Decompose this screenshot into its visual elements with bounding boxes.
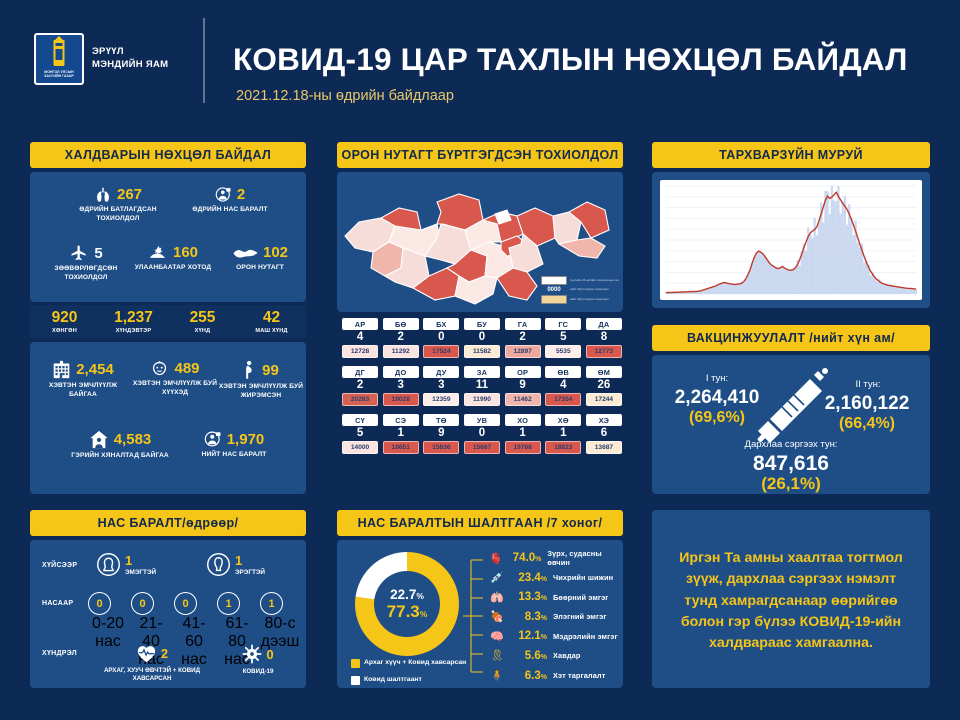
provinces-label: ОРОН НУТАГТ (214, 264, 306, 273)
ulaanbaatar-label: УЛААНБААТАР ХОТОД (126, 264, 220, 273)
province-daily-cases: 4 (342, 331, 378, 343)
dose1-label: I тун: (660, 373, 774, 384)
hospitalized-label: ХЭВТЭН ЭМЧЛҮҮЛЖ БАЙГАА (36, 382, 130, 400)
severity-critical-value: 42 (237, 309, 306, 327)
severity-mild-value: 920 (30, 309, 99, 327)
province-row: ДГ220283ДО319028ДУ312359ЗА1111990ОР91146… (342, 366, 622, 406)
province-code: СЭ (383, 414, 419, 426)
complication-chronic-value: 2 (161, 646, 168, 661)
province-cell-ДУ[interactable]: ДУ312359 (423, 366, 459, 406)
panel-title-deaths-daily: НАС БАРАЛТ/өдрөөр/ (30, 510, 306, 536)
province-daily-cases: 0 (464, 427, 500, 439)
province-total-cases: 12728 (342, 345, 378, 358)
panel-title-infection: ХАЛДВАРЫН НӨХЦӨЛ БАЙДАЛ (30, 142, 306, 168)
province-code: ОР (505, 366, 541, 378)
government-emblem-box: МОНГОЛ УЛСЫНЗАСГИЙН ГАЗАР (34, 33, 84, 85)
stat-daily-deaths: 2 ӨДРИЙН НАС БАРАЛТ (180, 186, 280, 215)
hospitalized-pregnant-label: ХЭВТЭН ЭМЧЛҮҮЛЖ БУЙ ЖИРЭМСЭН (216, 383, 306, 401)
legend-highlight-label: нийт бүртгэгдсэн тохиолдол (570, 298, 609, 302)
province-row: СҮ514000СЭ118651ТӨ915636УВ015687ХО119768… (342, 414, 622, 454)
death-person-icon (215, 186, 232, 203)
province-daily-cases: 1 (383, 427, 419, 439)
hospitalized-children-value: 489 (174, 360, 199, 377)
province-cell-УВ[interactable]: УВ015687 (464, 414, 500, 454)
insulin-icon: 💉 (487, 571, 507, 584)
panel-deaths-daily: ХҮЙСЭЭР НАСААР ХҮНДРЭЛ 1 ЭМЭГТЭЙ 1 ЭРЭГТ… (30, 540, 306, 688)
province-cell-ТӨ[interactable]: ТӨ915636 (423, 414, 459, 454)
province-daily-cases: 9 (505, 379, 541, 391)
home-isolation-label: ГЭРИЙН ХЯНАЛТАД БАЙГАА (68, 452, 172, 461)
province-total-cases: 17244 (586, 393, 622, 406)
severity-critical: 42 МАШ ХҮНД (237, 309, 306, 334)
hospitalized-value: 2,454 (76, 361, 114, 378)
province-daily-cases: 11 (464, 379, 500, 391)
age-group-value: 0 (88, 592, 111, 615)
panel-title-vaccination: ВАКЦИНЖУУЛАЛТ /нийт хүн ам/ (652, 325, 930, 351)
dose1-value: 2,264,410 (656, 387, 778, 409)
province-cell-ГА[interactable]: ГА212897 (505, 318, 541, 358)
brain-icon: 🧠 (487, 630, 507, 643)
province-total-cases: 12773 (586, 345, 622, 358)
ulaanbaatar-icon (148, 244, 168, 261)
legend-daily-label: сүүлийн 24 цагийн тохиолдлын тоо (570, 279, 619, 283)
death-cause-pct: 74.0% (505, 552, 541, 564)
deaths-male-value: 1 (235, 554, 265, 567)
booster-label: Дархлаа сэргээх тун: (691, 439, 891, 450)
province-total-cases: 20283 (342, 393, 378, 406)
panel-vaccination: I тун: 2,264,410 (69,6%) II тун: 2,160,1… (652, 355, 930, 494)
donut-center: 22.7% 77.3% (374, 571, 440, 637)
province-code: БХ (423, 318, 459, 330)
death-cause-pct: 5.6% (507, 650, 547, 662)
mongolia-map-icon (232, 246, 258, 260)
deaths-female-value: 1 (125, 554, 156, 567)
province-cell-ӨВ[interactable]: ӨВ417354 (545, 366, 581, 406)
hospitalized-children-label: ХЭВТЭН ЭМЧЛҮҮЛЖ БУЙ ХҮҮХЭД (128, 380, 222, 398)
death-cause-label: Элэгний эмгэг (553, 612, 607, 621)
province-daily-cases: 2 (342, 379, 378, 391)
provinces-value: 102 (263, 244, 288, 261)
page-header: МОНГОЛ УЛСЫНЗАСГИЙН ГАЗАР ЭРҮҮЛМЭНДИЙН Я… (0, 0, 960, 128)
ministry-name: ЭРҮҮЛМЭНДИЙН ЯАМ (92, 46, 168, 72)
panel-title-epi-curve: ТАРХВАРЗҮЙН МУРУЙ (652, 142, 930, 168)
age-group-value: 1 (260, 592, 283, 615)
dose2-value: 2,160,122 (806, 393, 928, 415)
home-person-icon (89, 430, 109, 449)
province-total-cases: 18823 (545, 441, 581, 454)
death-cause-label: Хэт таргалалт (553, 671, 605, 680)
stat-provinces: 102 ОРОН НУТАГТ (214, 244, 306, 273)
province-code: ДО (383, 366, 419, 378)
death-cause-pct: 13.3% (507, 591, 547, 603)
lungs-icon (94, 187, 112, 203)
age-group-value: 1 (217, 592, 240, 615)
deaths-male-label: ЭРЭГТЭЙ (235, 569, 265, 576)
hospital-icon (52, 360, 71, 379)
total-deaths-value: 1,970 (227, 431, 265, 448)
stat-daily-confirmed: 267 ӨДРИЙН БАТЛАГДСАН ТОХИОЛДОЛ (66, 186, 170, 224)
map-legend: сүүлийн 24 цагийн тохиолдлын тоо 0000 ни… (541, 276, 619, 306)
province-cell-АР[interactable]: АР412728 (342, 318, 378, 358)
province-cell-ГС[interactable]: ГС55535 (545, 318, 581, 358)
legend-chip-white (541, 276, 567, 285)
province-cell-СҮ[interactable]: СҮ514000 (342, 414, 378, 454)
panel-death-causes: 22.7% 77.3% Архаг хүүч + Ковид хавсарсан… (337, 540, 623, 688)
complication-covid: 0 КОВИД-19 (216, 644, 300, 675)
province-daily-cases: 3 (423, 379, 459, 391)
home-isolation-value: 4,583 (114, 431, 152, 448)
province-total-cases: 18651 (383, 441, 419, 454)
soyombo-icon (49, 40, 69, 68)
province-daily-cases: 0 (423, 331, 459, 343)
province-code: ДУ (423, 366, 459, 378)
legend-total-label: нийт бүртгэгдсэн тохиолдол (570, 288, 609, 292)
panel-epi-curve (652, 172, 930, 308)
donut-legend-primary: Архаг хүүч + Ковид хавсарсан (351, 658, 467, 668)
province-cell-ДО[interactable]: ДО319028 (383, 366, 419, 406)
stat-total-deaths: 1,970 НИЙТ НАС БАРАЛТ (182, 430, 286, 460)
panel-public-message: Иргэн Та амны хаалтаа тогтмол зүүж, дарх… (652, 510, 930, 688)
header-divider (203, 18, 205, 103)
severity-moderate-value: 1,237 (99, 309, 168, 327)
province-daily-cases: 26 (586, 379, 622, 391)
label-by-severity: ХҮНДРЭЛ (42, 650, 77, 657)
airplane-icon (69, 244, 89, 262)
death-cause-row: 🫀74.0%Зүрх, судасны өвчин (487, 550, 619, 566)
panel-hospitalization: 2,454 ХЭВТЭН ЭМЧЛҮҮЛЖ БАЙГАА 489 ХЭВТЭН … (30, 342, 306, 494)
complication-chronic-label: АРХАГ, ХУУЧ ӨВЧТЭЙ + КОВИД ХАВСАРСАН (92, 667, 212, 684)
province-code: ГА (505, 318, 541, 330)
province-cell-ӨМ[interactable]: ӨМ2617244 (586, 366, 622, 406)
province-cell-СЭ[interactable]: СЭ118651 (383, 414, 419, 454)
province-daily-cases: 5 (342, 427, 378, 439)
public-message-text: Иргэн Та амны хаалтаа тогтмол зүүж, дарх… (662, 548, 920, 654)
province-total-cases: 14000 (342, 441, 378, 454)
death-cause-label: Чихрийн шижин (553, 573, 613, 582)
donut-primary-pct: 77.3% (387, 602, 428, 622)
daily-confirmed-value: 267 (117, 186, 142, 203)
epi-curve-svg (660, 180, 922, 300)
bracket-connector-icon (463, 554, 485, 678)
province-total-cases: 19028 (383, 393, 419, 406)
severity-mild: 920 ХӨНГӨН (30, 309, 99, 334)
province-daily-cases: 6 (586, 427, 622, 439)
province-code: ӨМ (586, 366, 622, 378)
obesity-icon: 🧍 (487, 669, 507, 682)
death-cause-row: 💉23.4%Чихрийн шижин (487, 570, 619, 586)
province-cell-ХӨ[interactable]: ХӨ118823 (545, 414, 581, 454)
province-total-cases: 12897 (505, 345, 541, 358)
legend-chip-yellow (541, 295, 567, 304)
donut-secondary-pct: 22.7% (390, 587, 424, 602)
province-code: СҮ (342, 414, 378, 426)
severity-moderate-label: ХҮНДЭВТЭР (99, 328, 168, 334)
province-code: УВ (464, 414, 500, 426)
province-cell-ДА[interactable]: ДА812773 (586, 318, 622, 358)
province-code: ХӨ (545, 414, 581, 426)
mongolia-choropleth-map: сүүлийн 24 цагийн тохиолдлын тоо 0000 ни… (337, 172, 623, 312)
death-cause-pct: 23.4% (507, 572, 547, 584)
page-title: КОВИД-19 ЦАР ТАХЛЫН НӨХЦӨЛ БАЙДАЛ (233, 41, 908, 78)
dose2-pct: (66,4%) (806, 415, 928, 433)
death-cause-pct: 6.3% (507, 670, 547, 682)
province-cell-ЗА[interactable]: ЗА1111990 (464, 366, 500, 406)
death-cause-row: 🍖8.3%Элэгний эмгэг (487, 609, 619, 625)
legend-text-primary: Архаг хүүч + Ковид хавсарсан (364, 658, 466, 667)
kidney-icon: 🫁 (487, 591, 507, 604)
death-cause-label: Хавдар (553, 651, 581, 660)
death-cause-pct: 8.3% (507, 611, 547, 623)
province-daily-cases: 5 (545, 331, 581, 343)
legend-row-daily: сүүлийн 24 цагийн тохиолдлын тоо (541, 276, 619, 285)
death-cause-label: Мэдрэлийн эмгэг (553, 632, 618, 641)
deaths-female-label: ЭМЭГТЭЙ (125, 569, 156, 576)
ulaanbaatar-value: 160 (173, 244, 198, 261)
stat-hospitalized: 2,454 ХЭВТЭН ЭМЧЛҮҮЛЖ БАЙГАА (36, 360, 130, 400)
donut-legend-secondary: Ковид шалтгаант (351, 675, 467, 685)
province-cell-БӨ[interactable]: БӨ211292 (383, 318, 419, 358)
stat-hospitalized-children: 489 ХЭВТЭН ЭМЧЛҮҮЛЖ БУЙ ХҮҮХЭД (128, 360, 222, 398)
province-code: БӨ (383, 318, 419, 330)
liver-icon: 🍖 (487, 610, 507, 623)
severity-critical-label: МАШ ХҮНД (237, 328, 306, 334)
panel-title-regional: ОРОН НУТАГТ БҮРТГЭГДСЭН ТОХИОЛДОЛ (337, 142, 623, 168)
province-code: АР (342, 318, 378, 330)
province-daily-cases: 1 (505, 427, 541, 439)
age-group-value: 0 (174, 592, 197, 615)
complication-covid-label: КОВИД-19 (216, 668, 300, 675)
province-total-cases: 11582 (464, 345, 500, 358)
province-total-cases: 11990 (464, 393, 500, 406)
province-daily-cases: 9 (423, 427, 459, 439)
death-cause-label: Зүрх, судасны өвчин (547, 549, 619, 567)
total-death-icon (204, 430, 222, 448)
province-total-cases: 13687 (586, 441, 622, 454)
province-code: ХО (505, 414, 541, 426)
province-total-cases: 12359 (423, 393, 459, 406)
province-daily-cases: 2 (383, 331, 419, 343)
province-table: АР412728БӨ211292БХ017524БУ011582ГА212897… (342, 318, 622, 454)
death-cause-row: 🎗5.6%Хавдар (487, 648, 619, 664)
province-total-cases: 5535 (545, 345, 581, 358)
daily-deaths-label: ӨДРИЙН НАС БАРАЛТ (180, 206, 280, 215)
province-code: ДГ (342, 366, 378, 378)
heart-icon: 🫀 (487, 552, 505, 565)
panel-infection-status: 267 ӨДРИЙН БАТЛАГДСАН ТОХИОЛДОЛ 2 ӨДРИЙН… (30, 172, 306, 302)
province-daily-cases: 0 (464, 331, 500, 343)
panel-regional-map: сүүлийн 24 цагийн тохиолдлын тоо 0000 ни… (337, 172, 623, 312)
legend-number: 0000 (541, 287, 567, 293)
province-daily-cases: 3 (383, 379, 419, 391)
province-total-cases: 15687 (464, 441, 500, 454)
stat-ulaanbaatar: 160 УЛААНБААТАР ХОТОД (126, 244, 220, 273)
death-cause-list: 🫀74.0%Зүрх, судасны өвчин💉23.4%Чихрийн ш… (487, 550, 619, 687)
stat-home-isolation: 4,583 ГЭРИЙН ХЯНАЛТАД БАЙГАА (68, 430, 172, 461)
severity-moderate: 1,237 ХҮНДЭВТЭР (99, 309, 168, 334)
province-code: ӨВ (545, 366, 581, 378)
province-total-cases: 17524 (423, 345, 459, 358)
legend-swatch-white (351, 676, 360, 685)
province-row: АР412728БӨ211292БХ017524БУ011582ГА212897… (342, 318, 622, 358)
virus-icon (242, 644, 262, 664)
death-cause-row: 🧍6.3%Хэт таргалалт (487, 668, 619, 684)
severity-severe-label: ХҮНД (168, 328, 237, 334)
province-code: ДА (586, 318, 622, 330)
province-total-cases: 11462 (505, 393, 541, 406)
province-cell-БХ[interactable]: БХ017524 (423, 318, 459, 358)
legend-row-number: 0000 нийт бүртгэгдсэн тохиолдол (541, 287, 619, 293)
male-icon (206, 552, 231, 577)
daily-confirmed-label: ӨДРИЙН БАТЛАГДСАН ТОХИОЛДОЛ (66, 206, 170, 224)
dose1-pct: (69,6%) (656, 409, 778, 427)
label-by-age: НАСААР (42, 600, 73, 607)
province-daily-cases: 4 (545, 379, 581, 391)
baby-icon (150, 360, 169, 377)
pregnant-icon (243, 360, 257, 380)
logo-subtext: МОНГОЛ УЛСЫНЗАСГИЙН ГАЗАР (44, 70, 73, 79)
complication-covid-value: 0 (266, 647, 273, 662)
province-total-cases: 19768 (505, 441, 541, 454)
total-deaths-label: НИЙТ НАС БАРАЛТ (182, 451, 286, 460)
province-code: ТӨ (423, 414, 459, 426)
severity-severe-value: 255 (168, 309, 237, 327)
complication-chronic: 2 АРХАГ, ХУУЧ ӨВЧТЭЙ + КОВИД ХАВСАРСАН (92, 644, 212, 684)
hospitalized-pregnant-value: 99 (262, 362, 279, 379)
report-date: 2021.12.18-ны өдрийн байдлаар (236, 88, 454, 104)
death-cause-donut-chart: 22.7% 77.3% (355, 552, 459, 656)
province-code: БУ (464, 318, 500, 330)
heart-pulse-icon (136, 644, 157, 663)
province-daily-cases: 2 (505, 331, 541, 343)
cancer-icon: 🎗 (487, 649, 507, 662)
death-cause-label: Бөөрний эмгэг (553, 593, 608, 602)
province-daily-cases: 1 (545, 427, 581, 439)
transferred-value: 5 (94, 245, 102, 262)
dose2-label: II тун: (810, 379, 926, 390)
stat-transferred: 5 ЗӨӨВӨРЛӨГДСӨН ТОХИОЛДОЛ (38, 244, 134, 283)
death-cause-row: 🫁13.3%Бөөрний эмгэг (487, 589, 619, 605)
transferred-label: ЗӨӨВӨРЛӨГДСӨН ТОХИОЛДОЛ (38, 265, 134, 283)
severity-mild-label: ХӨНГӨН (30, 328, 99, 334)
age-group-value: 0 (131, 592, 154, 615)
death-cause-row: 🧠12.1%Мэдрэлийн эмгэг (487, 628, 619, 644)
province-cell-БУ[interactable]: БУ011582 (464, 318, 500, 358)
epi-curve-chart (660, 180, 922, 300)
province-cell-ХО[interactable]: ХО119768 (505, 414, 541, 454)
legend-text-secondary: Ковид шалтгаант (364, 675, 422, 684)
legend-swatch-yellow (351, 659, 360, 668)
deaths-male: 1 ЭРЭГТЭЙ (206, 552, 265, 577)
province-code: ЗА (464, 366, 500, 378)
panel-title-death-causes: НАС БАРАЛТЫН ШАЛТГААН /7 хоног/ (337, 510, 623, 536)
label-by-gender: ХҮЙСЭЭР (42, 562, 77, 569)
severity-strip: 920 ХӨНГӨН 1,237 ХҮНДЭВТЭР 255 ХҮНД 42 М… (30, 305, 306, 338)
ministry-logo: МОНГОЛ УЛСЫНЗАСГИЙН ГАЗАР ЭРҮҮЛМЭНДИЙН Я… (34, 33, 168, 85)
dashboard-root: МОНГОЛ УЛСЫНЗАСГИЙН ГАЗАР ЭРҮҮЛМЭНДИЙН Я… (0, 0, 960, 720)
province-cell-ХЭ[interactable]: ХЭ613687 (586, 414, 622, 454)
female-icon (96, 552, 121, 577)
province-code: ГС (545, 318, 581, 330)
stat-hospitalized-pregnant: 99 ХЭВТЭН ЭМЧЛҮҮЛЖ БУЙ ЖИРЭМСЭН (216, 360, 306, 401)
province-daily-cases: 8 (586, 331, 622, 343)
severity-severe: 255 ХҮНД (168, 309, 237, 334)
deaths-female: 1 ЭМЭГТЭЙ (96, 552, 156, 577)
legend-row-highlight: нийт бүртгэгдсэн тохиолдол (541, 295, 619, 304)
province-cell-ДГ[interactable]: ДГ220283 (342, 366, 378, 406)
daily-deaths-value: 2 (237, 186, 245, 203)
death-cause-pct: 12.1% (507, 630, 547, 642)
province-cell-ОР[interactable]: ОР911462 (505, 366, 541, 406)
province-code: ХЭ (586, 414, 622, 426)
province-total-cases: 15636 (423, 441, 459, 454)
province-total-cases: 11292 (383, 345, 419, 358)
booster-value: 847,616 (691, 452, 891, 476)
booster-pct: (26,1%) (691, 474, 891, 494)
province-total-cases: 17354 (545, 393, 581, 406)
